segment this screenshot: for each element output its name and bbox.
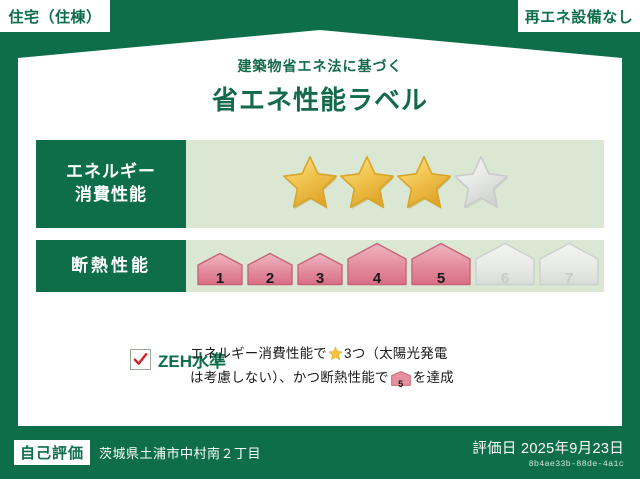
star-rating bbox=[282, 154, 509, 215]
insulation-grade-number: 3 bbox=[296, 270, 344, 287]
footer: 自己評価 茨城県土浦市中村南２丁目 評価日 2025年9月23日 8b4ae33… bbox=[0, 426, 640, 479]
badge-building-type: 住宅（住棟） bbox=[0, 0, 110, 32]
inline-star-icon bbox=[328, 346, 343, 368]
energy-performance-label: 住宅（住棟） 再エネ設備なし 建築物省エネ法に基づく 省エネ性能ラベル エネルギ… bbox=[0, 0, 640, 479]
insulation-grade-number: 2 bbox=[246, 270, 294, 287]
insulation-performance-row: 断熱性能 1234567 bbox=[36, 240, 604, 292]
evaluation-date: 評価日 2025年9月23日 bbox=[472, 437, 624, 458]
evaluation-address: 茨城県土浦市中村南２丁目 bbox=[99, 443, 261, 462]
insulation-performance-panel: 1234567 bbox=[186, 240, 604, 292]
insulation-house-empty: 6 bbox=[474, 242, 536, 291]
energy-label-line2: 消費性能 bbox=[75, 184, 147, 207]
insulation-grade-number: 5 bbox=[410, 270, 472, 287]
energy-performance-row: エネルギー 消費性能 bbox=[36, 140, 604, 228]
insulation-grade-number: 4 bbox=[346, 270, 408, 287]
footer-right: 評価日 2025年9月23日 8b4ae33b-88de-4a1c bbox=[472, 437, 640, 469]
insulation-house-empty: 7 bbox=[538, 242, 600, 291]
evaluation-id: 8b4ae33b-88de-4a1c bbox=[472, 459, 624, 469]
zeh-mark: ZEH水準 bbox=[36, 347, 178, 372]
zeh-standard-block: ZEH水準 エネルギー消費性能で3つ（太陽光発電は考慮しない）、かつ断熱性能で5… bbox=[36, 344, 604, 393]
footer-left: 自己評価 茨城県土浦市中村南２丁目 bbox=[0, 440, 472, 465]
insulation-grade-number: 7 bbox=[538, 270, 600, 287]
zeh-desc-part3: を達成 bbox=[413, 370, 454, 385]
energy-performance-label-box: エネルギー 消費性能 bbox=[36, 140, 186, 228]
insulation-grade-number: 1 bbox=[196, 270, 244, 287]
insulation-house-filled: 4 bbox=[346, 242, 408, 291]
zeh-description: エネルギー消費性能で3つ（太陽光発電は考慮しない）、かつ断熱性能で5を達成 bbox=[178, 344, 604, 393]
insulation-label: 断熱性能 bbox=[71, 255, 151, 278]
star-filled-icon bbox=[339, 154, 395, 215]
title-block: 建築物省エネ法に基づく 省エネ性能ラベル bbox=[0, 56, 640, 117]
star-filled-icon bbox=[282, 154, 338, 215]
badge-renewable-equipment: 再エネ設備なし bbox=[518, 0, 640, 32]
zeh-desc-part1: エネルギー消費性能で bbox=[190, 346, 327, 361]
insulation-house-filled: 2 bbox=[246, 252, 294, 291]
insulation-house-filled: 1 bbox=[196, 252, 244, 291]
self-evaluation-badge: 自己評価 bbox=[14, 440, 90, 465]
energy-performance-panel bbox=[186, 140, 604, 228]
zeh-desc-part2: は考慮しない）、かつ断熱性能で bbox=[190, 370, 389, 385]
insulation-house-filled: 5 bbox=[410, 242, 472, 291]
energy-label-line1: エネルギー bbox=[66, 161, 156, 184]
insulation-performance-label-box: 断熱性能 bbox=[36, 240, 186, 292]
page-title: 省エネ性能ラベル bbox=[0, 80, 640, 117]
check-icon bbox=[133, 352, 148, 367]
star-filled-icon bbox=[396, 154, 452, 215]
zeh-checkbox[interactable] bbox=[130, 349, 151, 370]
zeh-desc-star-count: 3つ（太陽光発電 bbox=[344, 346, 448, 361]
star-empty-icon bbox=[453, 154, 509, 215]
inline-house-icon: 5 bbox=[391, 371, 411, 393]
insulation-grade-number: 6 bbox=[474, 270, 536, 287]
insulation-house-filled: 3 bbox=[296, 252, 344, 291]
title-subtitle: 建築物省エネ法に基づく bbox=[0, 56, 640, 76]
insulation-grade-scale: 1234567 bbox=[196, 242, 600, 291]
inline-house-grade: 5 bbox=[391, 378, 411, 392]
